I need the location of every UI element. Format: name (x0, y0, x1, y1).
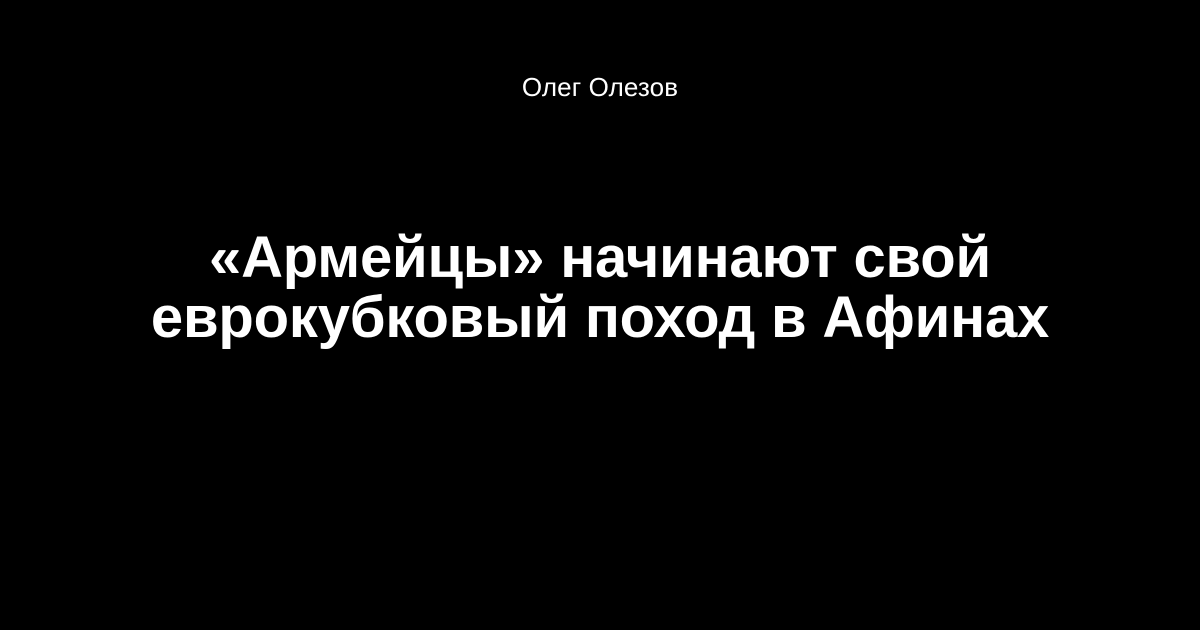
social-share-card: Олег Олезов «Армейцы» начинают свой евро… (0, 0, 1200, 630)
byline: Олег Олезов (0, 74, 1200, 100)
headline-block: «Армейцы» начинают свой еврокубковый пох… (100, 228, 1100, 348)
author-name: Олег Олезов (522, 74, 678, 100)
page-title: «Армейцы» начинают свой еврокубковый пох… (100, 228, 1100, 348)
